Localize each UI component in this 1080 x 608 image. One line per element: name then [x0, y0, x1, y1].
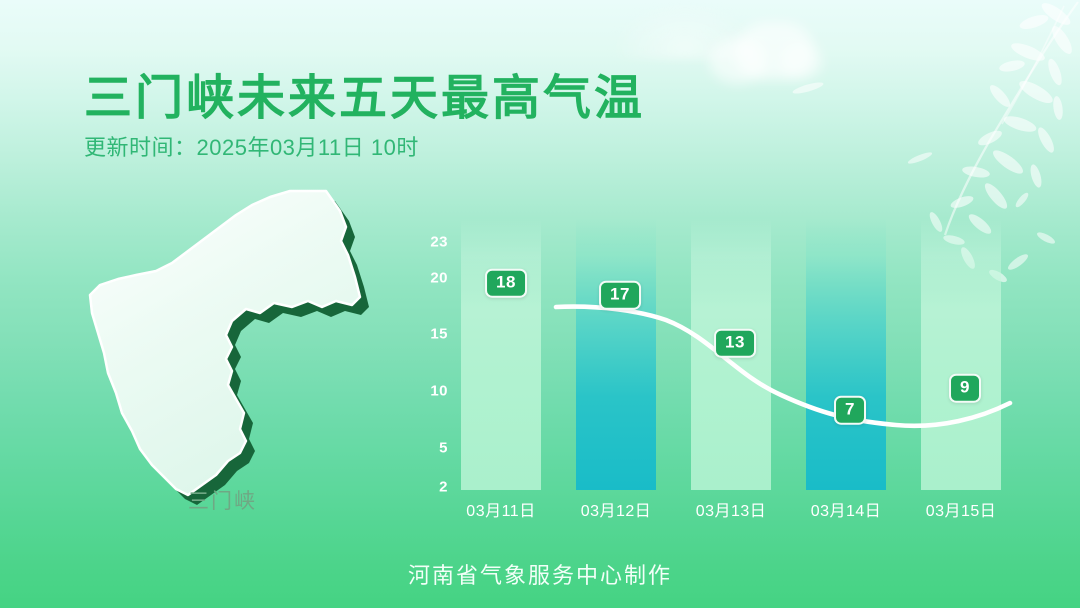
update-time-subtitle: 更新时间：2025年03月11日 10时 — [84, 130, 419, 162]
x-label-day-1: 03月11日 — [466, 497, 535, 521]
map-region-label: 三门峡 — [188, 485, 257, 515]
temperature-line — [510, 225, 1070, 490]
y-tick-20: 20 — [430, 270, 448, 287]
plot-area: 18 17 13 7 9 03月11日 03月12日 03月13日 03月14日… — [460, 225, 1020, 490]
cloud-shape — [735, 22, 815, 80]
x-label-day-5: 03月15日 — [926, 497, 997, 521]
page-title: 三门峡未来五天最高气温 — [84, 58, 645, 128]
value-badge-day-2: 17 — [599, 281, 641, 310]
region-map: 三门峡 — [60, 185, 400, 525]
temperature-chart: 23 20 15 10 5 2 18 17 13 7 9 03月11日 03月1… — [410, 225, 1020, 515]
y-tick-15: 15 — [430, 326, 448, 343]
value-badge-day-4: 7 — [834, 396, 866, 425]
value-badge-day-1: 18 — [485, 269, 527, 298]
cloud-wisp — [610, 0, 760, 60]
y-tick-2: 2 — [439, 479, 448, 496]
x-label-day-3: 03月13日 — [696, 497, 767, 521]
y-axis: 23 20 15 10 5 2 — [410, 225, 448, 490]
x-label-day-2: 03月12日 — [581, 497, 652, 521]
y-tick-5: 5 — [439, 440, 448, 457]
x-label-day-4: 03月14日 — [811, 497, 882, 521]
value-badge-day-3: 13 — [714, 329, 756, 358]
sanmenxia-map-shape — [60, 185, 400, 525]
y-tick-23: 23 — [430, 234, 448, 251]
y-tick-10: 10 — [430, 383, 448, 400]
value-badge-day-5: 9 — [949, 374, 981, 403]
footer-credit: 河南省气象服务中心制作 — [0, 558, 1080, 590]
